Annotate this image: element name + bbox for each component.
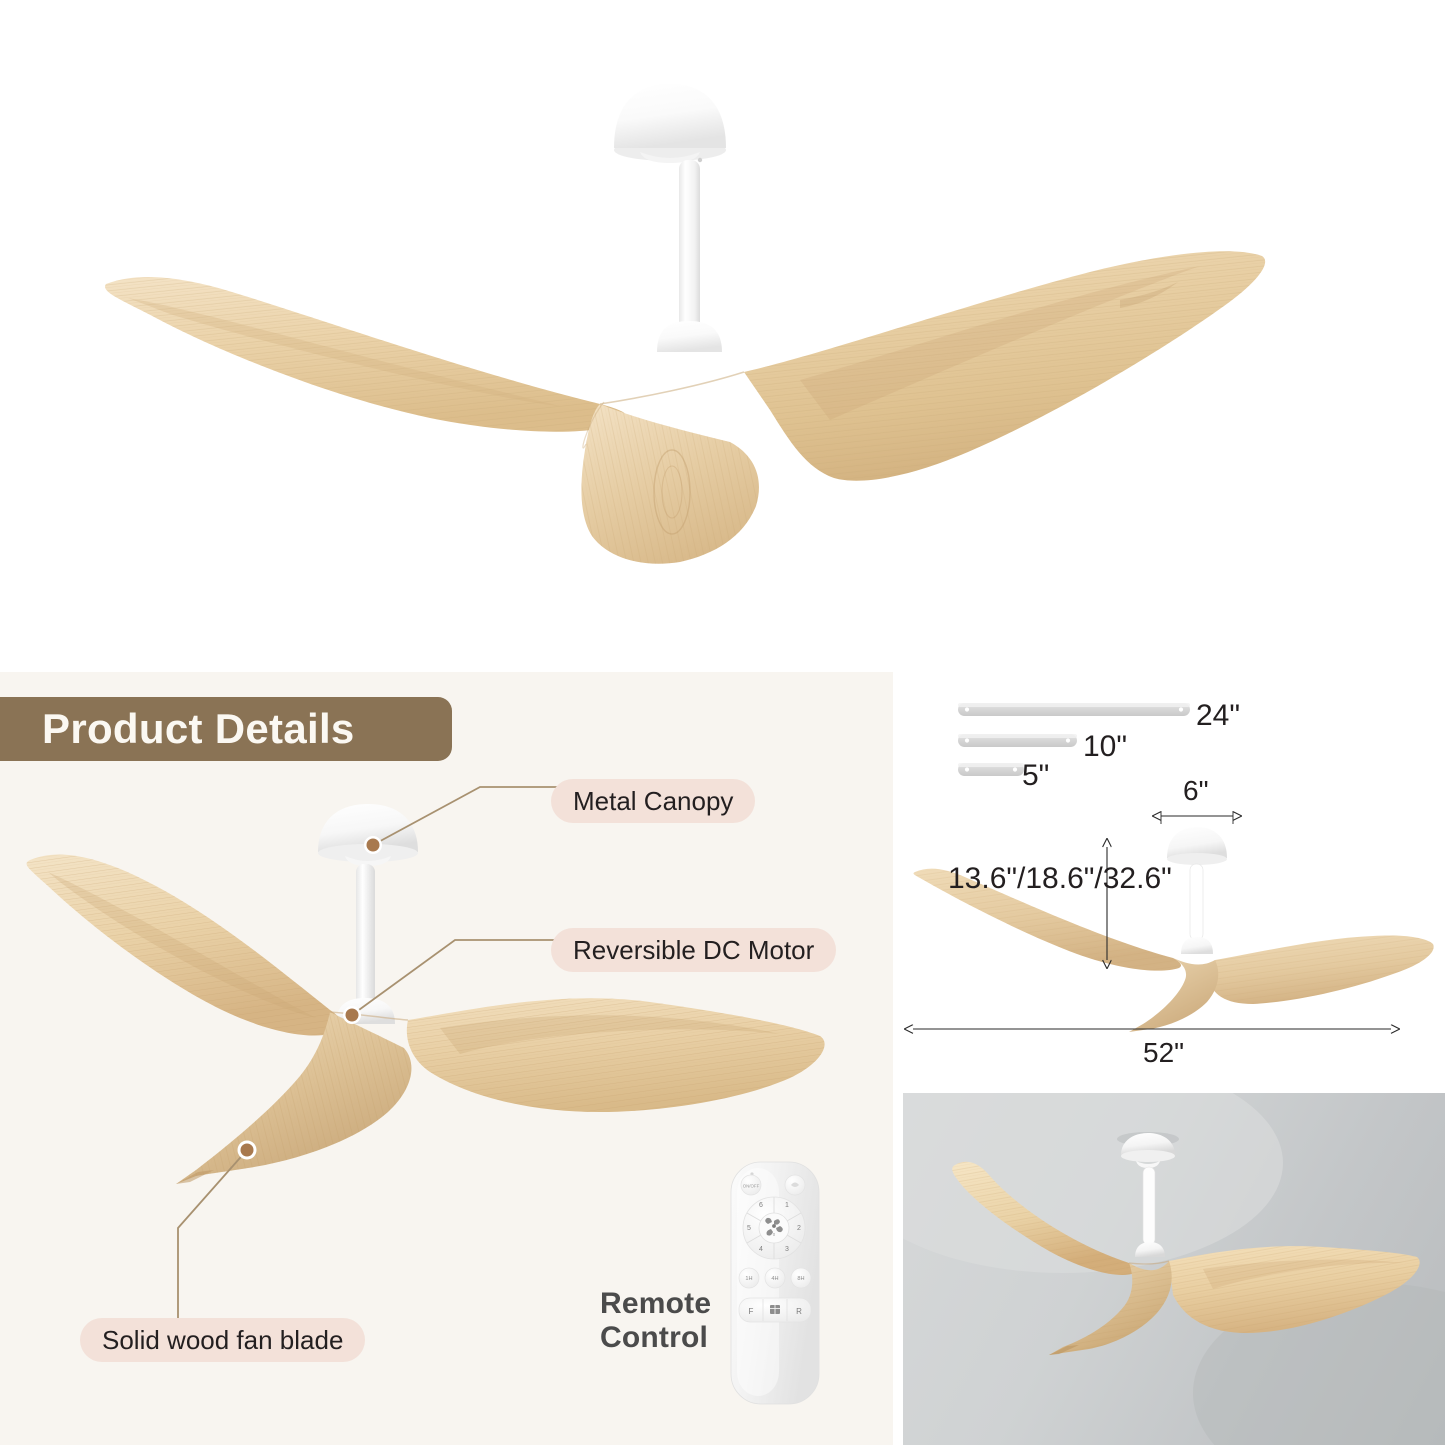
svg-text:R: R bbox=[796, 1307, 802, 1316]
svg-text:F: F bbox=[749, 1307, 754, 1316]
downrod-10 bbox=[958, 734, 1077, 747]
dimension-label-5in: 5" bbox=[1022, 759, 1049, 793]
downrod-24 bbox=[958, 703, 1190, 716]
photo-downrod bbox=[1143, 1167, 1155, 1245]
details-blade-left bbox=[27, 854, 344, 1035]
remote-control-illustration: ON/OFF 0 bbox=[723, 1158, 839, 1408]
hero-downrod bbox=[679, 160, 700, 345]
downrod-graphics bbox=[958, 703, 1190, 776]
dimension-label-heights: 13.6"/18.6"/32.6" bbox=[948, 862, 1172, 896]
svg-text:ON/OFF: ON/OFF bbox=[743, 1184, 760, 1189]
product-details-title-banner: Product Details bbox=[0, 697, 452, 761]
remote-control-caption: Remote Control bbox=[600, 1287, 711, 1354]
svg-text:5: 5 bbox=[747, 1225, 751, 1232]
downrod-5 bbox=[958, 763, 1024, 776]
dimension-label-10in: 10" bbox=[1083, 730, 1127, 764]
photo-fan-illustration bbox=[903, 1093, 1445, 1445]
details-canopy bbox=[318, 804, 418, 866]
details-blade-right bbox=[407, 998, 825, 1112]
svg-text:4: 4 bbox=[759, 1246, 763, 1253]
photo-blade-center bbox=[1049, 1261, 1172, 1355]
hero-canopy bbox=[614, 84, 726, 163]
dimension-label-24in: 24" bbox=[1196, 699, 1240, 733]
svg-text:2: 2 bbox=[797, 1225, 801, 1232]
installed-fan-photo bbox=[903, 1093, 1445, 1445]
anchor-metal-canopy bbox=[367, 839, 380, 852]
remote-direction-buttons[interactable]: F R bbox=[739, 1298, 811, 1322]
hero-fan-illustration bbox=[0, 0, 1445, 660]
svg-text:1H: 1H bbox=[745, 1276, 752, 1282]
hero-motor-housing bbox=[657, 321, 722, 352]
hero-product-image bbox=[0, 0, 1445, 660]
details-downrod bbox=[356, 864, 375, 1016]
svg-text:4H: 4H bbox=[771, 1276, 778, 1282]
anchor-solid-wood-blade bbox=[241, 1144, 254, 1157]
callout-label-reversible-motor: Reversible DC Motor bbox=[551, 928, 836, 972]
anchor-reversible-motor bbox=[346, 1009, 359, 1022]
remote-speed-dial[interactable]: 0 1 2 3 4 5 6 bbox=[743, 1197, 805, 1259]
hero-blade-left bbox=[105, 277, 628, 432]
svg-text:8H: 8H bbox=[797, 1276, 804, 1282]
dimension-label-blade-span: 52" bbox=[1143, 1037, 1184, 1069]
remote-caption-line2: Control bbox=[600, 1321, 711, 1355]
photo-ceiling-background bbox=[903, 1093, 1445, 1445]
remote-caption-line1: Remote bbox=[600, 1287, 711, 1321]
svg-text:3: 3 bbox=[785, 1246, 789, 1253]
callout-label-metal-canopy: Metal Canopy bbox=[551, 779, 755, 823]
hero-blade-right bbox=[744, 251, 1265, 480]
page-title: Product Details bbox=[0, 705, 355, 753]
canopy-width-dimension bbox=[1161, 811, 1233, 824]
hero-blade-center bbox=[581, 404, 759, 564]
svg-text:6: 6 bbox=[759, 1202, 763, 1209]
grid-icon bbox=[770, 1305, 780, 1314]
details-blade-center bbox=[176, 1012, 411, 1184]
svg-text:1: 1 bbox=[785, 1202, 789, 1209]
remote-timer-buttons[interactable]: 1H 4H 8H bbox=[739, 1268, 811, 1288]
callout-label-solid-wood-blade: Solid wood fan blade bbox=[80, 1318, 365, 1362]
dimension-fan-side-view bbox=[914, 827, 1434, 1032]
dimension-label-canopy-width: 6" bbox=[1183, 775, 1209, 807]
